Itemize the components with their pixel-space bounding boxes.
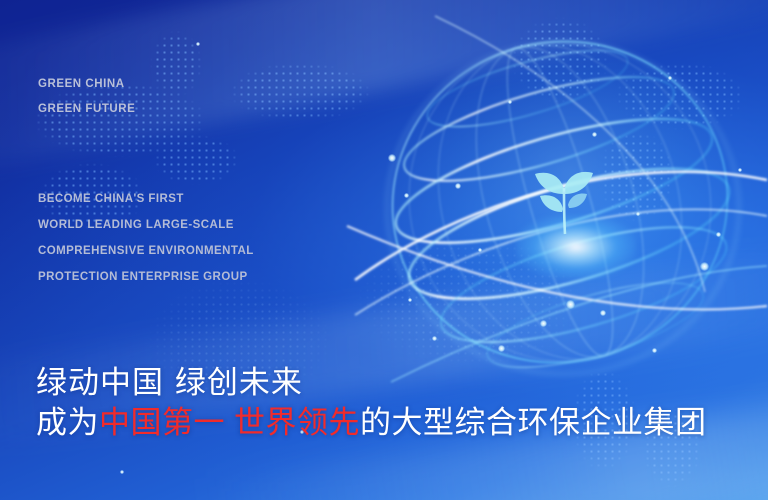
light-particle [455, 183, 461, 189]
light-particle [540, 320, 547, 327]
chinese-headline: 绿动中国 绿创未来 成为中国第一世界领先的大型综合环保企业集团 [36, 364, 707, 444]
headline-accent-world-leading: 世界领先 [234, 405, 360, 441]
headline-line-2: 成为中国第一世界领先的大型综合环保企业集团 [36, 402, 707, 444]
light-particle [652, 348, 657, 353]
green-sprout-seedling-icon [529, 160, 599, 238]
english-tagline-top-line: GREEN CHINA [38, 72, 135, 97]
light-particle [738, 168, 742, 172]
light-particle [592, 132, 597, 137]
headline-suffix: 的大型综合环保企业集团 [360, 405, 707, 441]
headline-accent-china-first: 中国第一 [99, 405, 225, 441]
banner-root: GREEN CHINA GREEN FUTURE BECOME CHINA'S … [0, 0, 768, 500]
light-particle [600, 310, 606, 316]
light-particle [668, 76, 672, 80]
light-particle [478, 248, 482, 252]
light-particle [508, 100, 512, 104]
english-tagline-block: BECOME CHINA'S FIRST WORLD LEADING LARGE… [38, 186, 254, 290]
light-particle [498, 345, 505, 352]
headline-line-1: 绿动中国 绿创未来 [36, 364, 707, 402]
light-particle [636, 212, 640, 216]
light-particle [120, 470, 124, 474]
light-particle [388, 154, 396, 162]
light-particle [404, 193, 409, 198]
light-particle [196, 42, 200, 46]
english-tagline-block-line: BECOME CHINA'S FIRST [38, 186, 254, 212]
headline-prefix: 成为 [36, 405, 99, 441]
english-tagline-block-line: COMPREHENSIVE ENVIRONMENTAL [38, 238, 254, 264]
english-tagline-block-line: WORLD LEADING LARGE-SCALE [38, 212, 254, 238]
light-particle [566, 300, 575, 309]
english-tagline-block-line: PROTECTION ENTERPRISE GROUP [38, 264, 254, 290]
english-tagline-top: GREEN CHINA GREEN FUTURE [38, 72, 135, 122]
light-particle [716, 232, 721, 237]
light-particle [432, 336, 437, 341]
light-particle [408, 298, 412, 302]
light-particle [700, 262, 709, 271]
english-tagline-top-line: GREEN FUTURE [38, 97, 135, 122]
